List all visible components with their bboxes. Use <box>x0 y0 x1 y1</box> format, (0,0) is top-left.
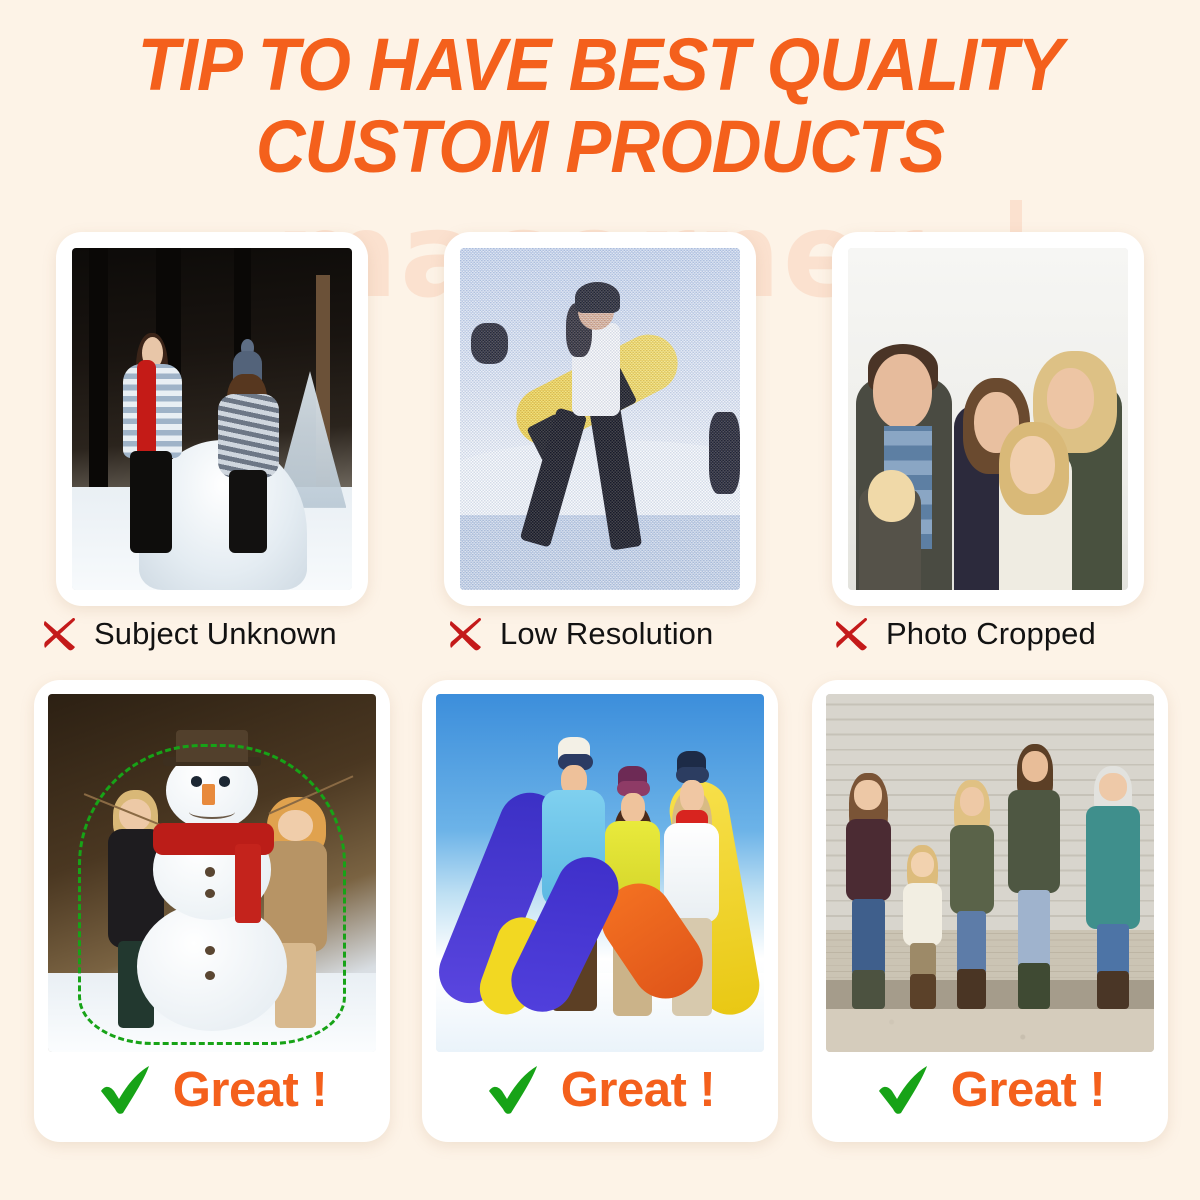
bad-label-text: Subject Unknown <box>94 616 337 652</box>
red-x-icon <box>832 614 872 654</box>
photo-family-wooden-wall <box>826 694 1154 1052</box>
photo-snowman-with-two-women <box>48 694 376 1052</box>
red-x-icon <box>446 614 486 654</box>
photo-three-snowboarders <box>436 694 764 1052</box>
bad-label-subject-unknown: Subject Unknown <box>40 606 337 662</box>
photo-two-women-building-snowman <box>72 248 352 590</box>
good-label-great-1: Great ! <box>48 1052 376 1128</box>
bad-example-card-low-resolution <box>444 232 756 606</box>
good-label-text: Great ! <box>951 1062 1105 1118</box>
bad-example-card-photo-cropped <box>832 232 1144 606</box>
green-check-icon <box>97 1061 155 1119</box>
page-title: TIP TO HAVE BEST QUALITY CUSTOM PRODUCTS <box>0 24 1200 188</box>
page-title-line-2: CUSTOM PRODUCTS <box>42 106 1158 188</box>
green-check-icon <box>875 1061 933 1119</box>
photo-low-res-snowboarder <box>460 248 740 590</box>
good-label-text: Great ! <box>173 1062 327 1118</box>
good-example-card-snowman: Great ! <box>34 680 390 1142</box>
good-label-text: Great ! <box>561 1062 715 1118</box>
bad-example-card-subject-unknown <box>56 232 368 606</box>
red-x-icon <box>40 614 80 654</box>
bad-label-text: Photo Cropped <box>886 616 1096 652</box>
green-check-icon <box>485 1061 543 1119</box>
bad-label-text: Low Resolution <box>500 616 713 652</box>
good-label-great-2: Great ! <box>436 1052 764 1128</box>
good-label-great-3: Great ! <box>826 1052 1154 1128</box>
good-example-card-family: Great ! <box>812 680 1168 1142</box>
photo-family-cropped <box>848 248 1128 590</box>
good-example-card-snowboarders: Great ! <box>422 680 778 1142</box>
page-title-line-1: TIP TO HAVE BEST QUALITY <box>42 24 1158 106</box>
bad-label-low-resolution: Low Resolution <box>446 606 713 662</box>
green-dashed-cutout-outline <box>78 744 347 1045</box>
bad-label-photo-cropped: Photo Cropped <box>832 606 1096 662</box>
